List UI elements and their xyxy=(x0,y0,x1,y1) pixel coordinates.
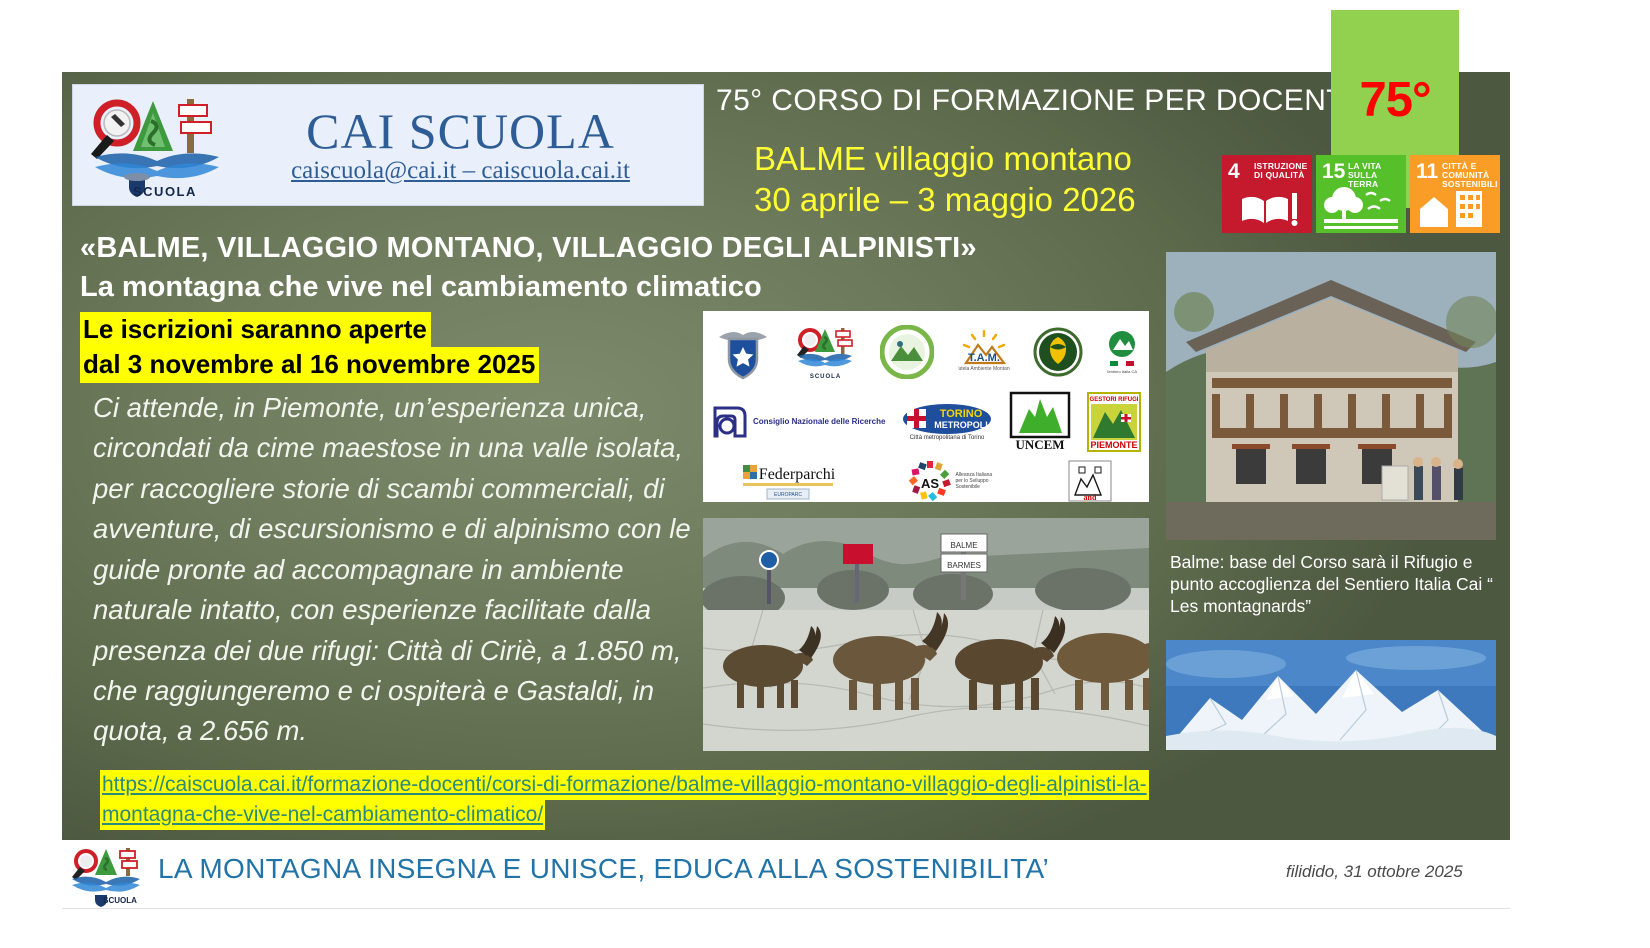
sdg-icon-strip: 4 ISTRUZIONE DI QUALITÀ 15 LA VITA SULLA… xyxy=(1222,155,1500,233)
ibex-illustration: BALME BARMES xyxy=(703,518,1149,751)
mountain-illustration xyxy=(1166,640,1496,750)
course-title: 75° CORSO DI FORMAZIONE PER DOCENTI xyxy=(716,84,1336,118)
emblem-scuola-word: SCUOLA xyxy=(133,184,197,199)
footer-credit: filidido, 31 ottobre 2025 xyxy=(1286,862,1463,882)
cai-scuola-logo-word: SCUOLA xyxy=(810,374,841,380)
course-url-line1[interactable]: https://caiscuola.cai.it/formazione-doce… xyxy=(100,770,1149,800)
svg-text:Sentiero Italia CAI: Sentiero Italia CAI xyxy=(1107,369,1137,374)
svg-text:BALME: BALME xyxy=(950,541,977,550)
svg-text:EUROPARC: EUROPARC xyxy=(774,492,802,498)
description-paragraph: Ci attende, in Piemonte, un’esperienza u… xyxy=(93,388,693,752)
svg-text:AS: AS xyxy=(921,476,939,491)
svg-text:Federparchi: Federparchi xyxy=(759,466,836,483)
sdg-11-number: 11 xyxy=(1416,161,1438,182)
chalet-illustration xyxy=(1166,252,1496,540)
svg-text:Tutela Ambiente Montano: Tutela Ambiente Montano xyxy=(958,366,1010,372)
poster-canvas: 75° xyxy=(0,0,1650,948)
cai-scuola-logo-bar: SCUOLA CAI SCUOLA caiscuola@cai.it – cai… xyxy=(72,84,704,206)
svg-text:BARMES: BARMES xyxy=(947,561,981,570)
sdg-4-icon: 4 ISTRUZIONE DI QUALITÀ xyxy=(1222,155,1312,233)
open-book-icon xyxy=(1222,185,1312,229)
tam-logo: T.A.M. Tutela Ambiente Montano xyxy=(958,327,1010,377)
edition-badge-label: 75° xyxy=(1331,72,1459,128)
cai-emblem-icon xyxy=(81,91,236,199)
cai-scuola-logo: SCUOLA xyxy=(794,324,856,380)
footer-emblem-icon: SCUOLA xyxy=(68,845,148,907)
federparchi-logo: Federparchi EUROPARC xyxy=(739,461,837,501)
svg-text:T.A.M.: T.A.M. xyxy=(968,352,1000,364)
rifugio-balme-photo xyxy=(1166,252,1496,540)
citta-di-torino-logo xyxy=(1033,327,1083,377)
svg-text:TORINO: TORINO xyxy=(940,408,983,420)
ibex-herd-photo: BALME BARMES xyxy=(703,518,1149,751)
cai-scuola-emblem: SCUOLA xyxy=(81,91,236,199)
sdg-4-label: ISTRUZIONE DI QUALITÀ xyxy=(1254,162,1309,180)
poster-title-line2: La montagna che vive nel cambiamento cli… xyxy=(80,271,1140,304)
cnr-logo: Consiglio Nazionale delle Ricerche xyxy=(711,402,885,442)
svg-text:GESTORI RIFUGI: GESTORI RIFUGI xyxy=(1090,397,1139,403)
tree-birds-icon xyxy=(1316,185,1406,229)
snowy-mountain-photo xyxy=(1166,640,1496,750)
svg-text:PIEMONTE: PIEMONTE xyxy=(1091,440,1138,450)
registration-line2: dal 3 novembre al 16 novembre 2025 xyxy=(80,347,539,382)
svg-text:SCUOLA: SCUOLA xyxy=(103,896,137,905)
sentiero-italia-cai-logo: Sentiero Italia CAI xyxy=(1107,328,1137,376)
cai-scuola-title: CAI SCUOLA xyxy=(236,106,685,156)
asvis-logo: AS Alleanza Italiana per lo Sviluppo Sos… xyxy=(908,460,995,502)
footer-divider xyxy=(62,908,1510,909)
svg-text:UNCEM: UNCEM xyxy=(1016,437,1065,452)
registration-highlight: Le iscrizioni saranno aperte dal 3 novem… xyxy=(80,312,539,383)
sdg-15-number: 15 xyxy=(1322,161,1345,182)
sdg-15-icon: 15 LA VITA SULLA TERRA xyxy=(1316,155,1406,233)
svg-text:and: and xyxy=(1084,493,1097,502)
aeronautica-shield-logo xyxy=(715,323,771,381)
sdg-4-number: 4 xyxy=(1228,161,1240,182)
comitato-scientifico-logo xyxy=(880,325,934,379)
chalet-caption: Balme: base del Corso sarà il Rifugio e … xyxy=(1170,552,1500,618)
cnr-logo-text: Consiglio Nazionale delle Ricerche xyxy=(753,417,885,426)
registration-line1: Le iscrizioni saranno aperte xyxy=(80,312,431,347)
svg-text:Città metropolitana di Torino: Città metropolitana di Torino xyxy=(910,435,985,441)
uncem-logo: UNCEM xyxy=(1009,391,1071,453)
andi-logo: and xyxy=(1067,459,1113,503)
course-url-line2[interactable]: montagna-che-vive-nel-cambiamento-climat… xyxy=(100,800,545,830)
svg-text:METROPOLI: METROPOLI xyxy=(935,420,989,430)
course-url-block[interactable]: https://caiscuola.cai.it/formazione-doce… xyxy=(100,770,1149,830)
poster-title-line1: «BALME, VILLAGGIO MONTANO, VILLAGGIO DEG… xyxy=(80,232,1140,265)
footer-cai-emblem: SCUOLA xyxy=(68,845,148,907)
gestori-rifugi-piemonte-logo: GESTORI RIFUGI PIEMONTE xyxy=(1087,392,1141,452)
buildings-icon xyxy=(1410,185,1500,229)
sdg-11-icon: 11 CITTÀ E COMUNITÀ SOSTENIBILI xyxy=(1410,155,1500,233)
footer-slogan: LA MONTAGNA INSEGNA E UNISCE, EDUCA ALLA… xyxy=(158,853,1049,885)
torino-metropoli-logo: TORINO METROPOLI Città metropolitana di … xyxy=(901,402,993,442)
cai-scuola-contacts[interactable]: caiscuola@cai.it – caiscuola.cai.it xyxy=(236,158,685,184)
partner-logos-collage: SCUOLA T.A.M. Tutela A xyxy=(703,311,1149,502)
